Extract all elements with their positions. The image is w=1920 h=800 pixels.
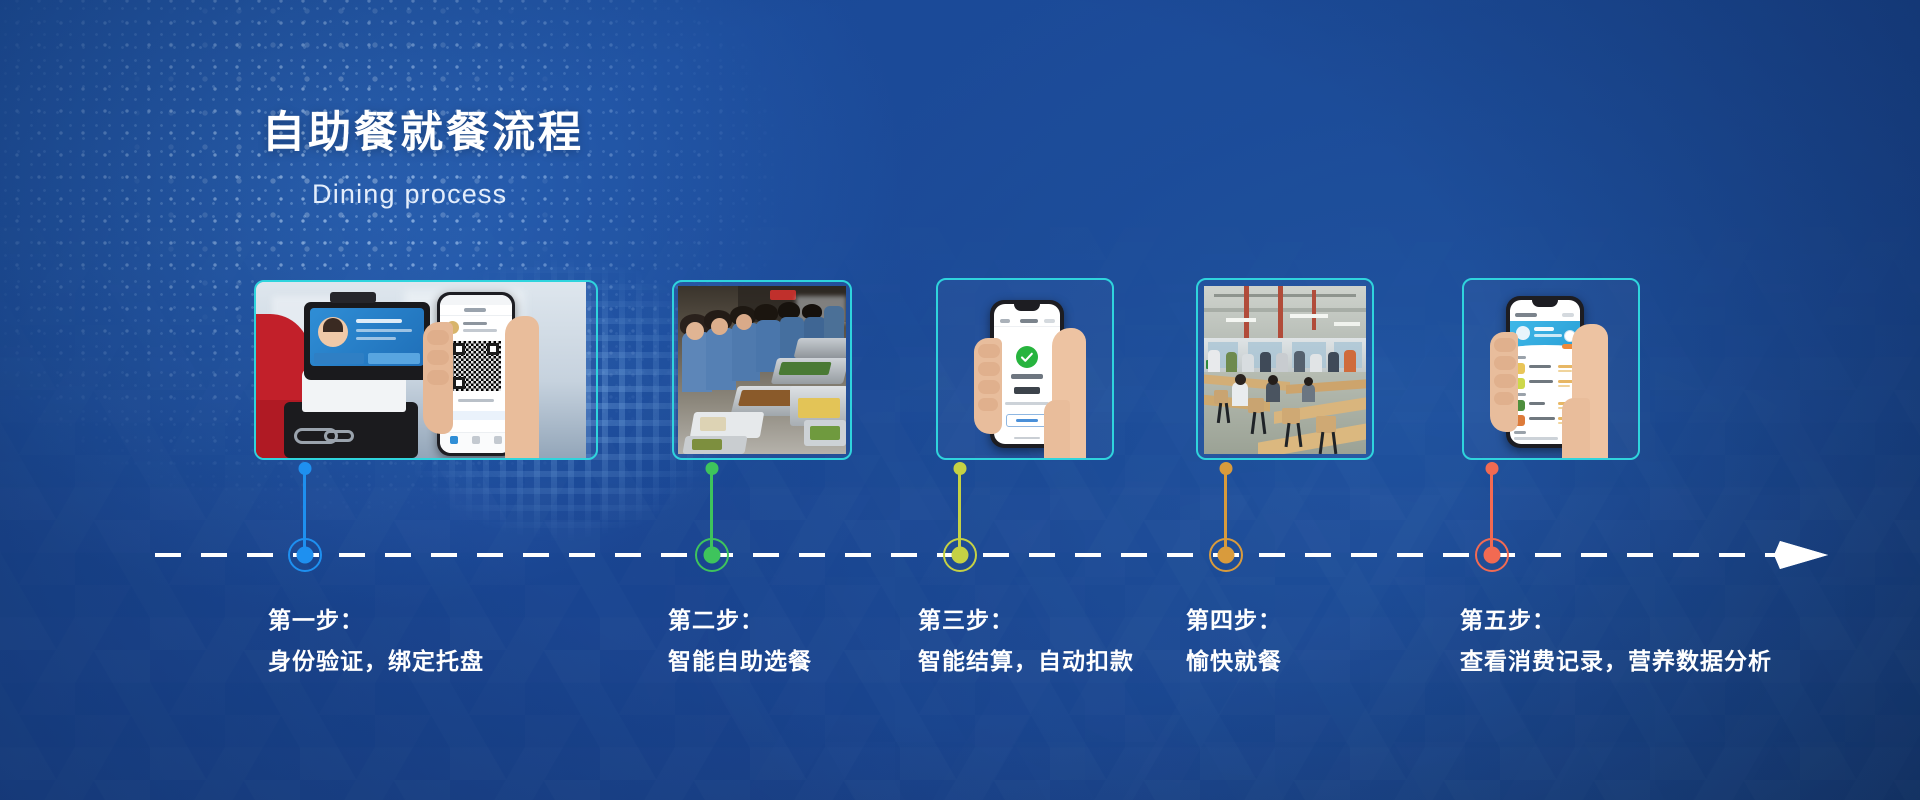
step-1-label: 第一步： 身份验证，绑定托盘 <box>268 608 484 673</box>
arrow-right-icon <box>1772 529 1830 581</box>
step-1-description: 身份验证，绑定托盘 <box>268 649 484 673</box>
step-2-description: 智能自助选餐 <box>668 649 812 673</box>
step-3-card[interactable] <box>936 278 1114 460</box>
page-title: 自助餐就餐流程 <box>262 112 584 155</box>
step-5-photo <box>1464 280 1638 458</box>
page-subtitle: Dining process <box>312 179 584 210</box>
step-2-photo <box>678 286 846 454</box>
step-3-photo <box>938 280 1112 458</box>
heading-block: 自助餐就餐流程 Dining process <box>262 112 584 210</box>
step-5-label: 第五步： 查看消费记录，营养数据分析 <box>1460 608 1772 673</box>
step-4-marker-dot <box>1218 547 1235 564</box>
step-4-label: 第四步： 愉快就餐 <box>1186 608 1282 673</box>
step-5-marker-dot <box>1484 547 1501 564</box>
step-3-description: 智能结算，自动扣款 <box>918 649 1134 673</box>
step-4-description: 愉快就餐 <box>1186 649 1282 673</box>
step-3-label: 第三步： 智能结算，自动扣款 <box>918 608 1134 673</box>
step-4-card[interactable] <box>1196 278 1374 460</box>
step-2-step-label: 第二步： <box>668 608 812 632</box>
step-2-marker-dot <box>704 547 721 564</box>
step-1-card[interactable] <box>254 280 598 460</box>
step-3-marker-dot <box>952 547 969 564</box>
step-4-photo <box>1204 286 1366 454</box>
slide-canvas: 自助餐就餐流程 Dining process <box>0 0 1920 800</box>
step-5-card[interactable] <box>1462 278 1640 460</box>
step-1-photo <box>254 280 586 460</box>
step-1-marker-dot <box>297 547 314 564</box>
step-5-step-label: 第五步： <box>1460 608 1772 632</box>
step-2-label: 第二步： 智能自助选餐 <box>668 608 812 673</box>
step-1-step-label: 第一步： <box>268 608 484 632</box>
step-3-step-label: 第三步： <box>918 608 1134 632</box>
step-2-card[interactable] <box>672 280 852 460</box>
step-4-step-label: 第四步： <box>1186 608 1282 632</box>
step-5-description: 查看消费记录，营养数据分析 <box>1460 649 1772 673</box>
